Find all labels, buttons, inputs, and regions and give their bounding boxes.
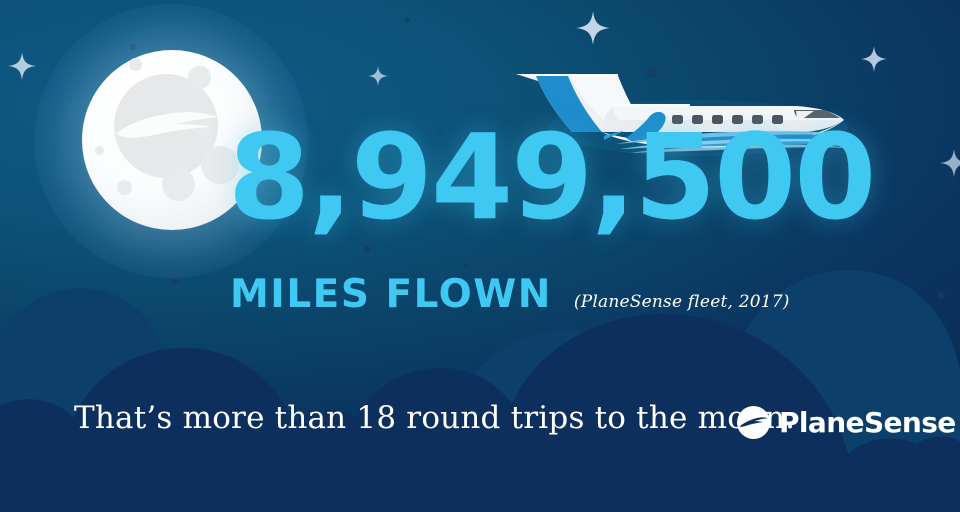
fleet-year-note: (PlaneSense fleet, 2017)	[574, 292, 790, 312]
sparkle-star-icon	[861, 46, 887, 72]
tagline-text: That’s more than 18 round trips to the m…	[74, 400, 795, 436]
miles-flown-value: 8,949,500	[228, 118, 874, 236]
moon-crater	[188, 66, 211, 89]
moon-crater	[95, 146, 104, 155]
planesense-wordmark: PlaneSense	[779, 406, 956, 439]
sparkle-star-icon	[368, 66, 388, 86]
planesense-swoosh-icon	[737, 406, 770, 439]
moon-crater	[117, 180, 132, 195]
sparkle-star-icon	[8, 52, 36, 80]
infographic-canvas: 8,949,500 MILES FLOWN (PlaneSense fleet,…	[0, 0, 960, 512]
miles-flown-label: MILES FLOWN	[230, 272, 552, 317]
planesense-swoosh-icon	[110, 102, 228, 144]
cloud-silhouette-icon	[0, 222, 960, 512]
planesense-logo[interactable]: PlaneSense	[737, 406, 956, 439]
sparkle-star-icon	[940, 149, 960, 177]
background-dot	[405, 18, 410, 23]
moon-crater	[129, 58, 142, 71]
moon-crater	[162, 168, 195, 201]
sparkle-star-icon	[576, 11, 610, 45]
miles-flown-subtitle: MILES FLOWN (PlaneSense fleet, 2017)	[230, 272, 790, 317]
